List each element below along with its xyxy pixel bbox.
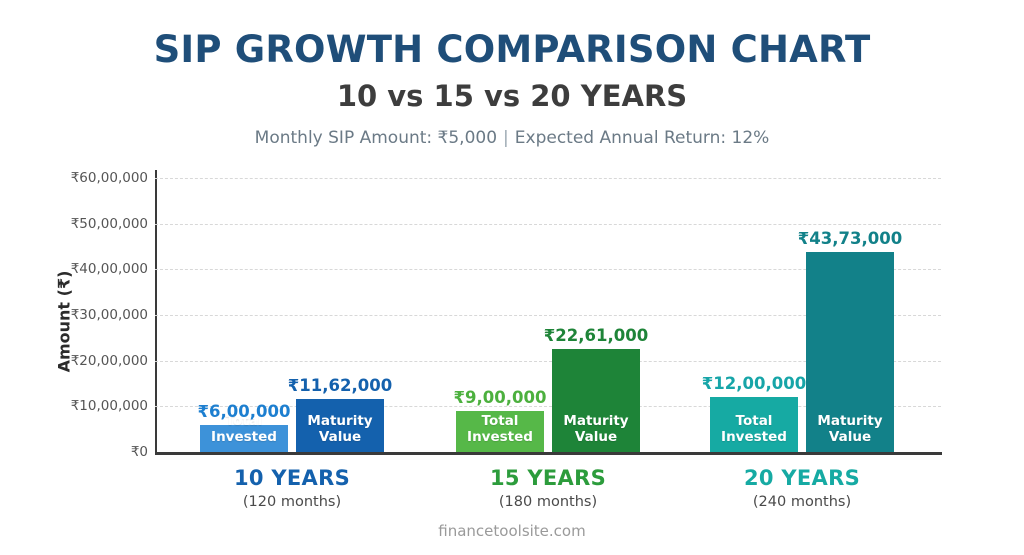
- bar-caption: MaturityValue: [296, 414, 384, 452]
- bar-value-label: ₹43,73,000: [798, 229, 902, 248]
- bar-caption-line1: Total: [482, 413, 519, 429]
- site-credit: financetoolsite.com: [0, 522, 1024, 540]
- group-name: 10 YEARS: [172, 466, 412, 490]
- group-name: 15 YEARS: [428, 466, 668, 490]
- bar-total-invested[interactable]: TotalInvested₹9,00,000: [456, 411, 544, 452]
- bar-maturity-value[interactable]: MaturityValue₹11,62,000: [296, 399, 384, 452]
- bar-value-label: ₹12,00,000: [702, 374, 806, 393]
- y-axis-tick-label: ₹10,00,000: [0, 398, 148, 414]
- bar-maturity-value[interactable]: MaturityValue₹43,73,000: [806, 252, 894, 452]
- bar-value-label: ₹22,61,000: [544, 326, 648, 345]
- bar-caption-line2: Invested: [721, 429, 787, 445]
- bar-maturity-value[interactable]: MaturityValue₹22,61,000: [552, 349, 640, 452]
- y-axis-tick-label: ₹0: [0, 444, 148, 460]
- bar-caption-line1: Maturity: [563, 413, 628, 429]
- bar-value-label: ₹6,00,000: [198, 402, 291, 421]
- assumptions-separator: |: [497, 128, 515, 148]
- bar-total-invested[interactable]: TotalInvested₹6,00,000: [200, 425, 288, 452]
- group-months: (240 months): [682, 494, 922, 510]
- chart-canvas: SIP GROWTH COMPARISON CHART 10 vs 15 vs …: [0, 0, 1024, 555]
- chart-title: SIP GROWTH COMPARISON CHART: [0, 28, 1024, 71]
- monthly-sip-amount: Monthly SIP Amount: ₹5,000: [255, 128, 497, 148]
- bar-value-label: ₹9,00,000: [454, 388, 547, 407]
- chart-assumptions: Monthly SIP Amount: ₹5,000|Expected Annu…: [0, 128, 1024, 148]
- bar-total-invested[interactable]: TotalInvested₹12,00,000: [710, 397, 798, 452]
- bar-caption: MaturityValue: [552, 414, 640, 452]
- group-months: (120 months): [172, 494, 412, 510]
- y-axis-tick-label: ₹40,00,000: [0, 261, 148, 277]
- bar-caption-line2: Invested: [211, 429, 277, 445]
- bar-caption-line1: Maturity: [817, 413, 882, 429]
- gridline: [155, 224, 941, 225]
- bar-caption-line2: Value: [575, 429, 617, 445]
- y-axis-tick-label: ₹50,00,000: [0, 216, 148, 232]
- gridline: [155, 178, 941, 179]
- bar-value-label: ₹11,62,000: [288, 376, 392, 395]
- bar-caption-line2: Invested: [467, 429, 533, 445]
- group-label-15-years: 15 YEARS(180 months): [428, 466, 668, 510]
- bar-caption-line1: Total: [736, 413, 773, 429]
- group-label-20-years: 20 YEARS(240 months): [682, 466, 922, 510]
- bar-caption: MaturityValue: [806, 414, 894, 452]
- bar-caption: TotalInvested: [456, 414, 544, 452]
- x-axis-line: [155, 452, 942, 455]
- expected-annual-return: Expected Annual Return: 12%: [515, 128, 770, 148]
- group-name: 20 YEARS: [682, 466, 922, 490]
- chart-subtitle: 10 vs 15 vs 20 YEARS: [0, 79, 1024, 113]
- plot-area: TotalInvested₹6,00,000MaturityValue₹11,6…: [155, 178, 941, 452]
- y-axis-tick-label: ₹20,00,000: [0, 353, 148, 369]
- bar-caption: TotalInvested: [710, 414, 798, 452]
- group-label-10-years: 10 YEARS(120 months): [172, 466, 412, 510]
- bar-caption-line2: Value: [829, 429, 871, 445]
- bar-caption-line2: Value: [319, 429, 361, 445]
- bar-caption-line1: Maturity: [307, 413, 372, 429]
- y-axis-tick-label: ₹30,00,000: [0, 307, 148, 323]
- group-months: (180 months): [428, 494, 668, 510]
- y-axis-tick-label: ₹60,00,000: [0, 170, 148, 186]
